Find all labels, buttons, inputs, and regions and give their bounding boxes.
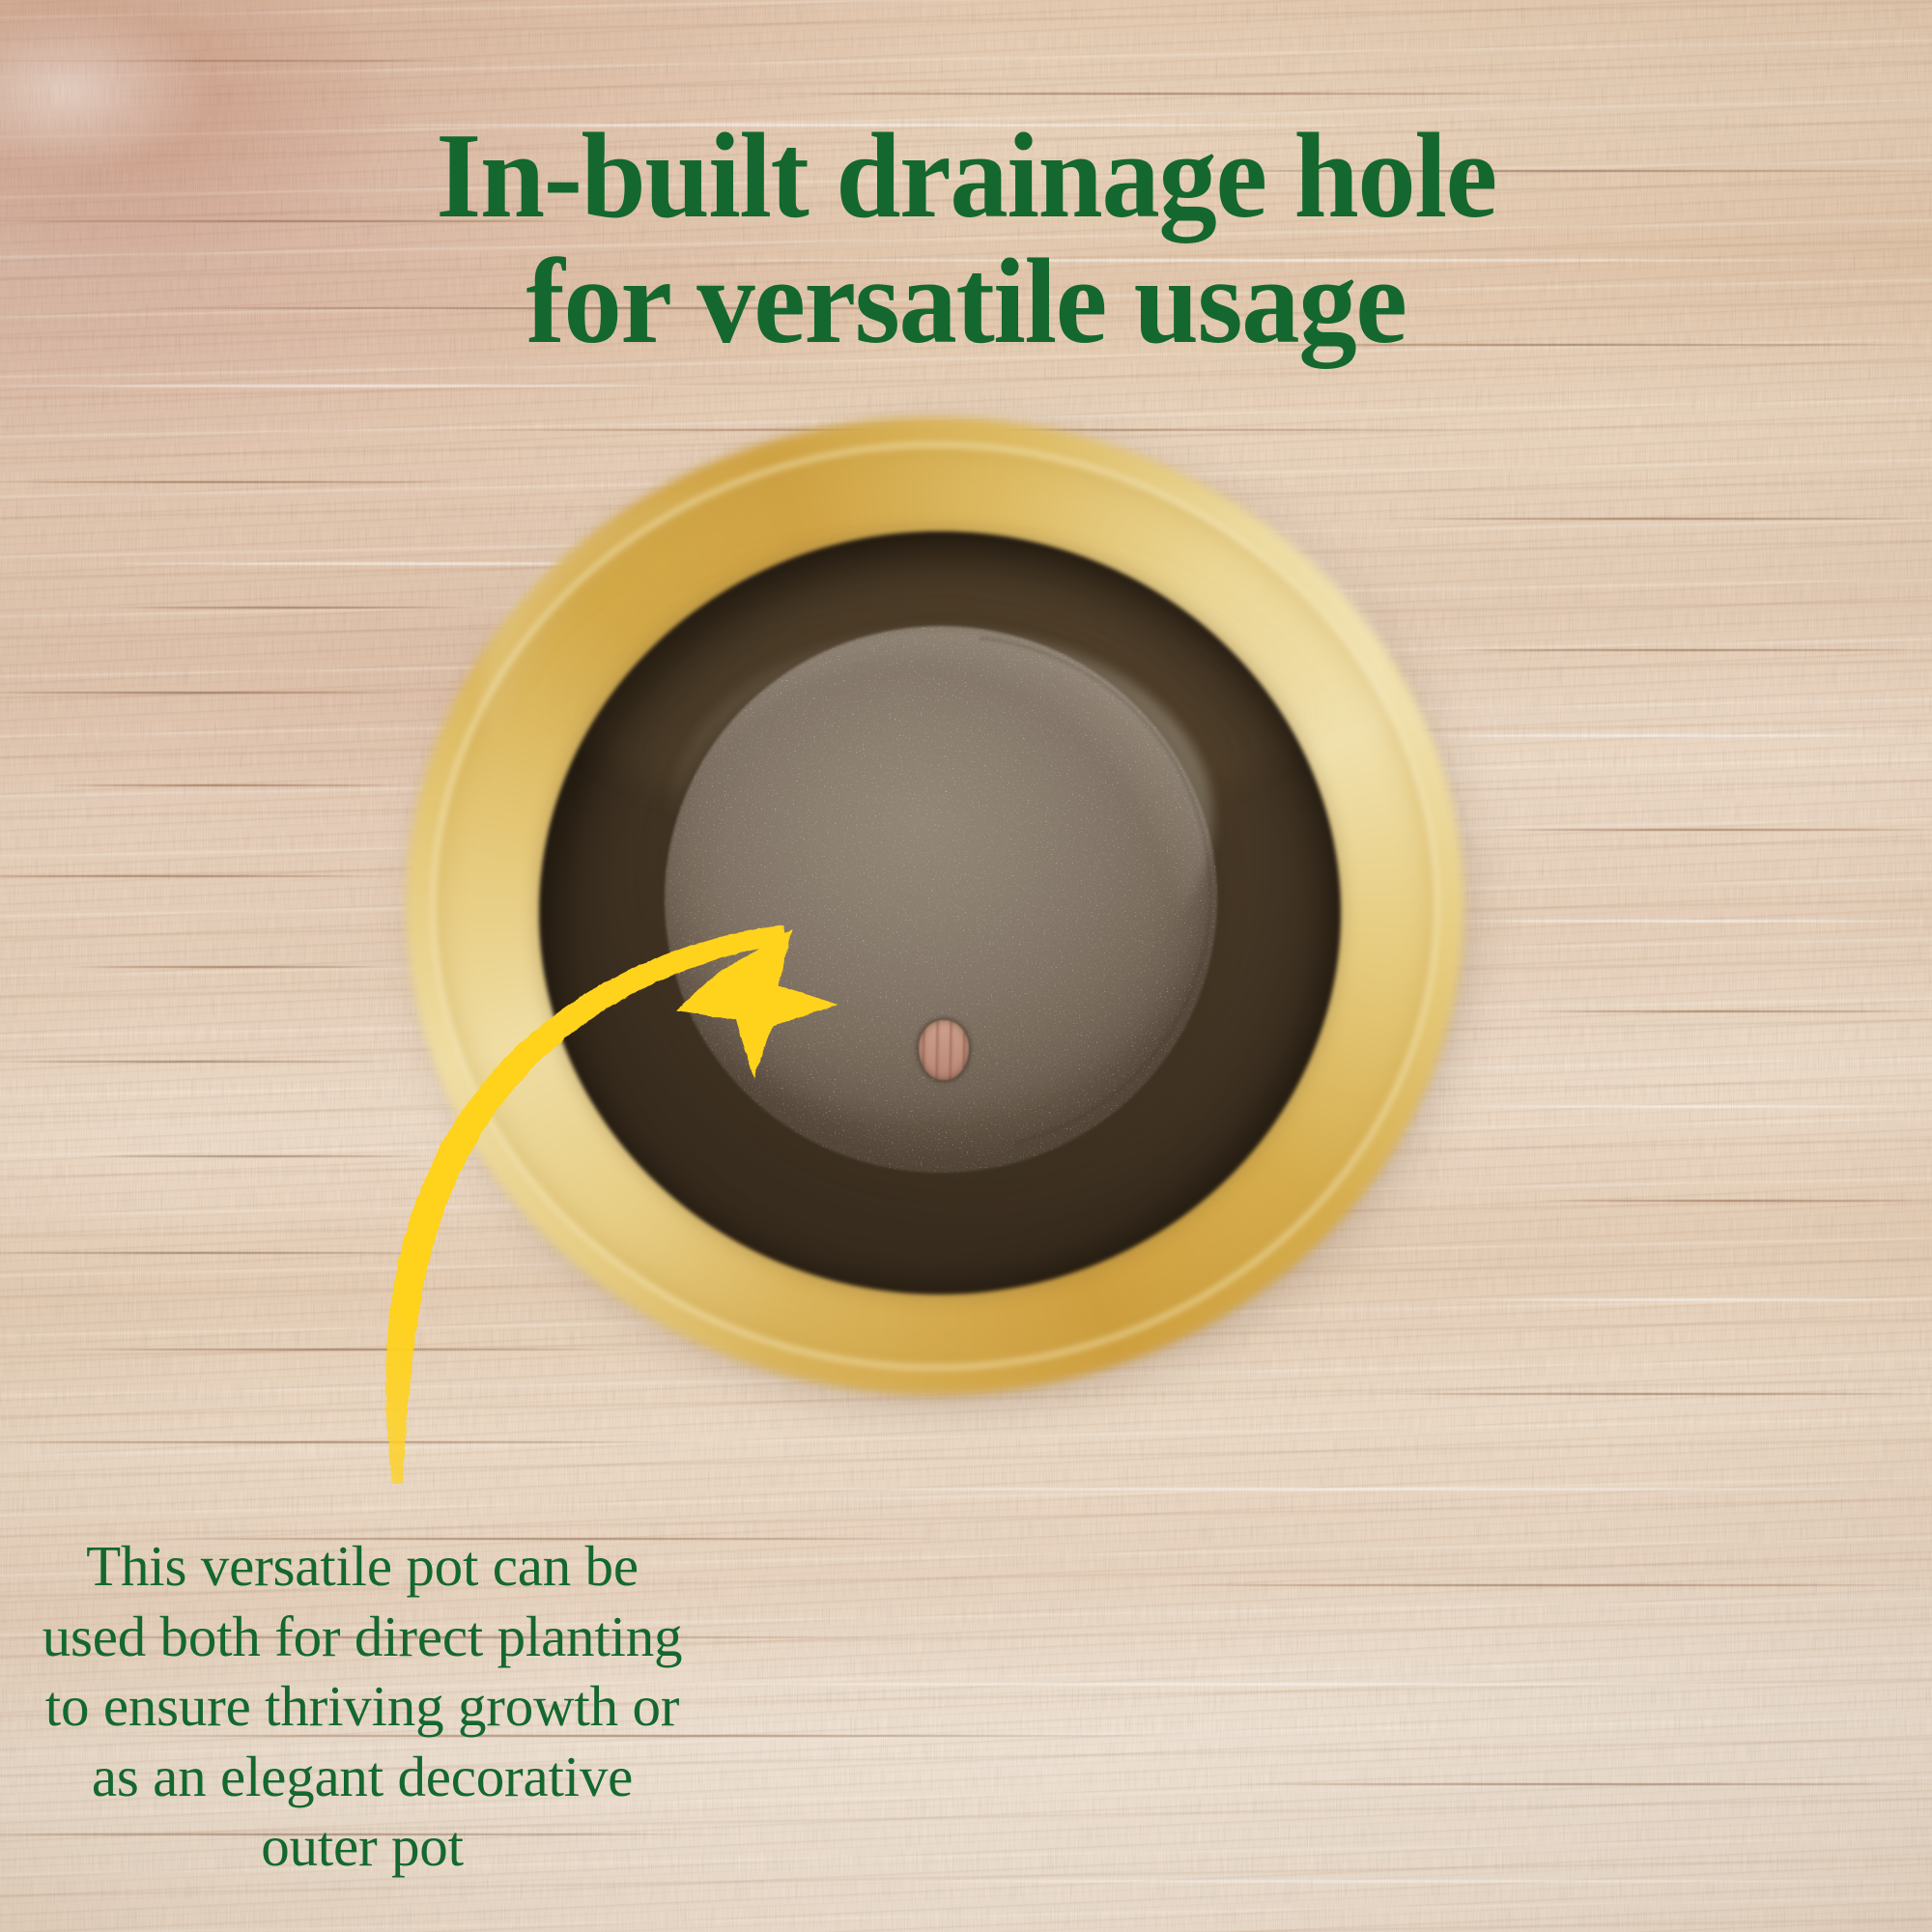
description-text: This versatile pot can be used both for … <box>39 1531 686 1882</box>
headline-line-2: for versatile usage <box>39 240 1893 365</box>
drainage-hole <box>919 1020 969 1080</box>
headline: In-built drainage hole for versatile usa… <box>39 114 1893 365</box>
headline-line-1: In-built drainage hole <box>39 114 1893 240</box>
promo-image-canvas: In-built drainage hole for versatile usa… <box>0 0 1932 1932</box>
ceramic-plant-pot <box>406 386 1488 1410</box>
